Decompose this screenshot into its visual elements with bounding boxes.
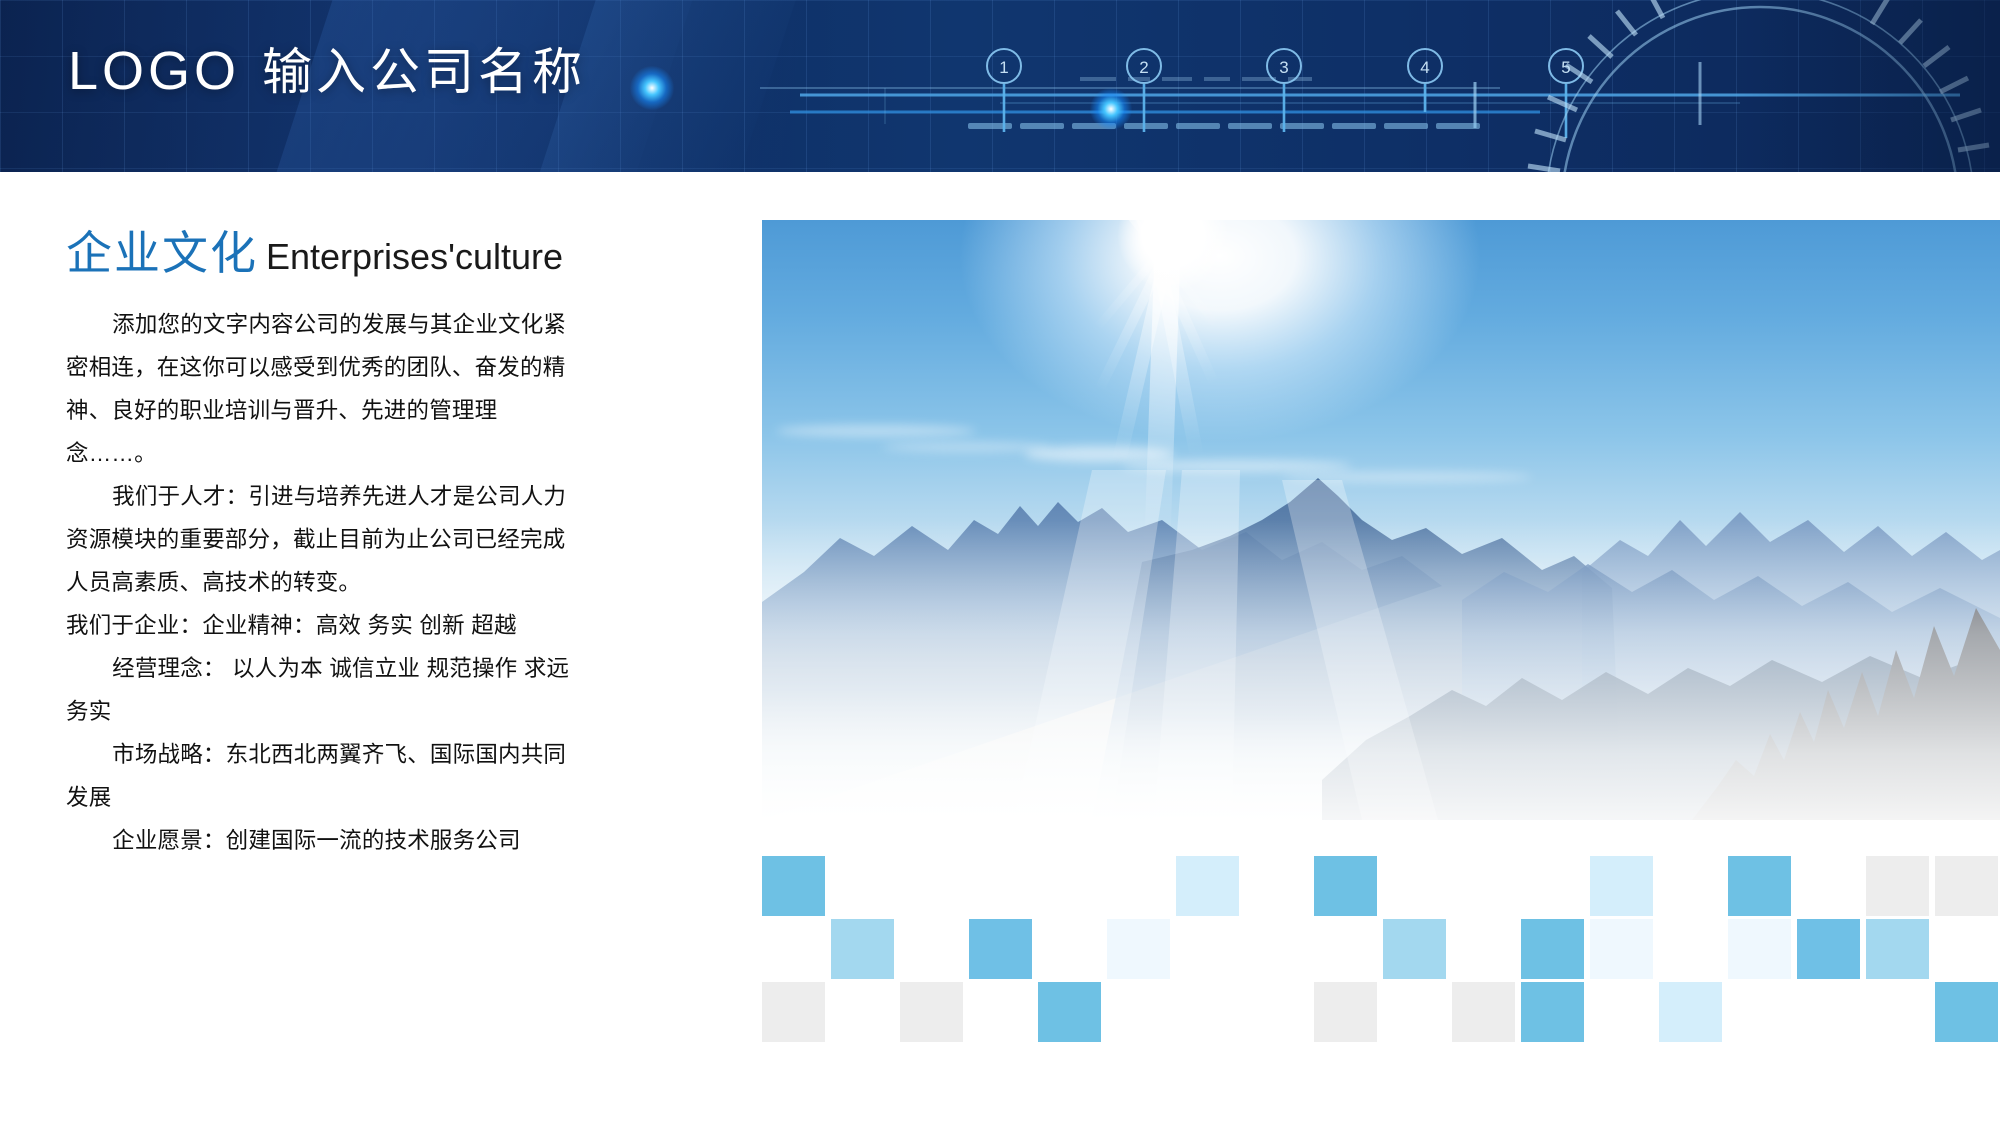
header-glow-dot-right [1090,88,1132,130]
mountain-landscape-photo [762,220,2000,820]
mosaic-square [1038,982,1101,1042]
valley-haze-overlay [762,520,2000,820]
section-title-en: Enterprises'culture [266,236,563,277]
mosaic-square [1935,982,1998,1042]
mosaic-square [762,982,825,1042]
mosaic-square [1314,982,1377,1042]
mosaic-square [1107,919,1170,979]
body-text-block: 添加您的文字内容公司的发展与其企业文化紧密相连，在这你可以感受到优秀的团队、奋发… [66,303,576,862]
mosaic-square [1452,982,1515,1042]
mosaic-square [1797,919,1860,979]
header-glow-dot-left [630,66,674,110]
logo-text: LOGO [68,41,240,101]
mosaic-square [1383,919,1446,979]
header-right-fade [1740,0,2000,172]
mosaic-square [1314,856,1377,916]
mosaic-square [1935,856,1998,916]
mosaic-square [1728,919,1791,979]
text-column: 企业文化Enterprises'culture 添加您的文字内容公司的发展与其企… [66,228,576,862]
body-paragraph-1: 添加您的文字内容公司的发展与其企业文化紧密相连，在这你可以感受到优秀的团队、奋发… [66,303,576,475]
body-paragraph-6: 企业愿景：创建国际一流的技术服务公司 [66,819,576,862]
mosaic-square [1659,982,1722,1042]
body-paragraph-5: 市场战略：东北西北两翼齐飞、国际国内共同发展 [66,733,576,819]
mosaic-square [1590,919,1653,979]
header-marker-4: 4 [1420,58,1429,77]
slide-canvas: 1 2 3 4 5 [0,0,2000,1125]
header-marker-3: 3 [1279,58,1288,77]
decorative-square-mosaic [762,856,2000,1046]
mosaic-square [900,982,963,1042]
mosaic-square [1866,856,1929,916]
mosaic-square [1866,919,1929,979]
section-title-cn: 企业文化 [66,227,258,279]
body-paragraph-4: 经营理念： 以人为本 诚信立业 规范操作 求远务实 [66,647,576,733]
header-marker-2: 2 [1139,58,1148,77]
mosaic-square [969,919,1032,979]
section-title: 企业文化Enterprises'culture [66,228,576,279]
mosaic-square [1728,856,1791,916]
slide-header: 1 2 3 4 5 [0,0,2000,172]
footer-whitespace [0,1055,2000,1125]
mosaic-square [762,856,825,916]
mosaic-square [1176,856,1239,916]
mosaic-square [831,919,894,979]
body-paragraph-2: 我们于人才：引进与培养先进人才是公司人力资源模块的重要部分，截止目前为止公司已经… [66,475,576,604]
header-marker-1: 1 [999,58,1008,77]
header-title: LOGO输入公司名称 [68,44,586,98]
body-paragraph-3: 我们于企业：企业精神：高效 务实 创新 超越 [66,604,576,647]
mosaic-square [1521,982,1584,1042]
mosaic-square [1521,919,1584,979]
mosaic-square [1590,856,1653,916]
company-name-text: 输入公司名称 [262,44,586,100]
